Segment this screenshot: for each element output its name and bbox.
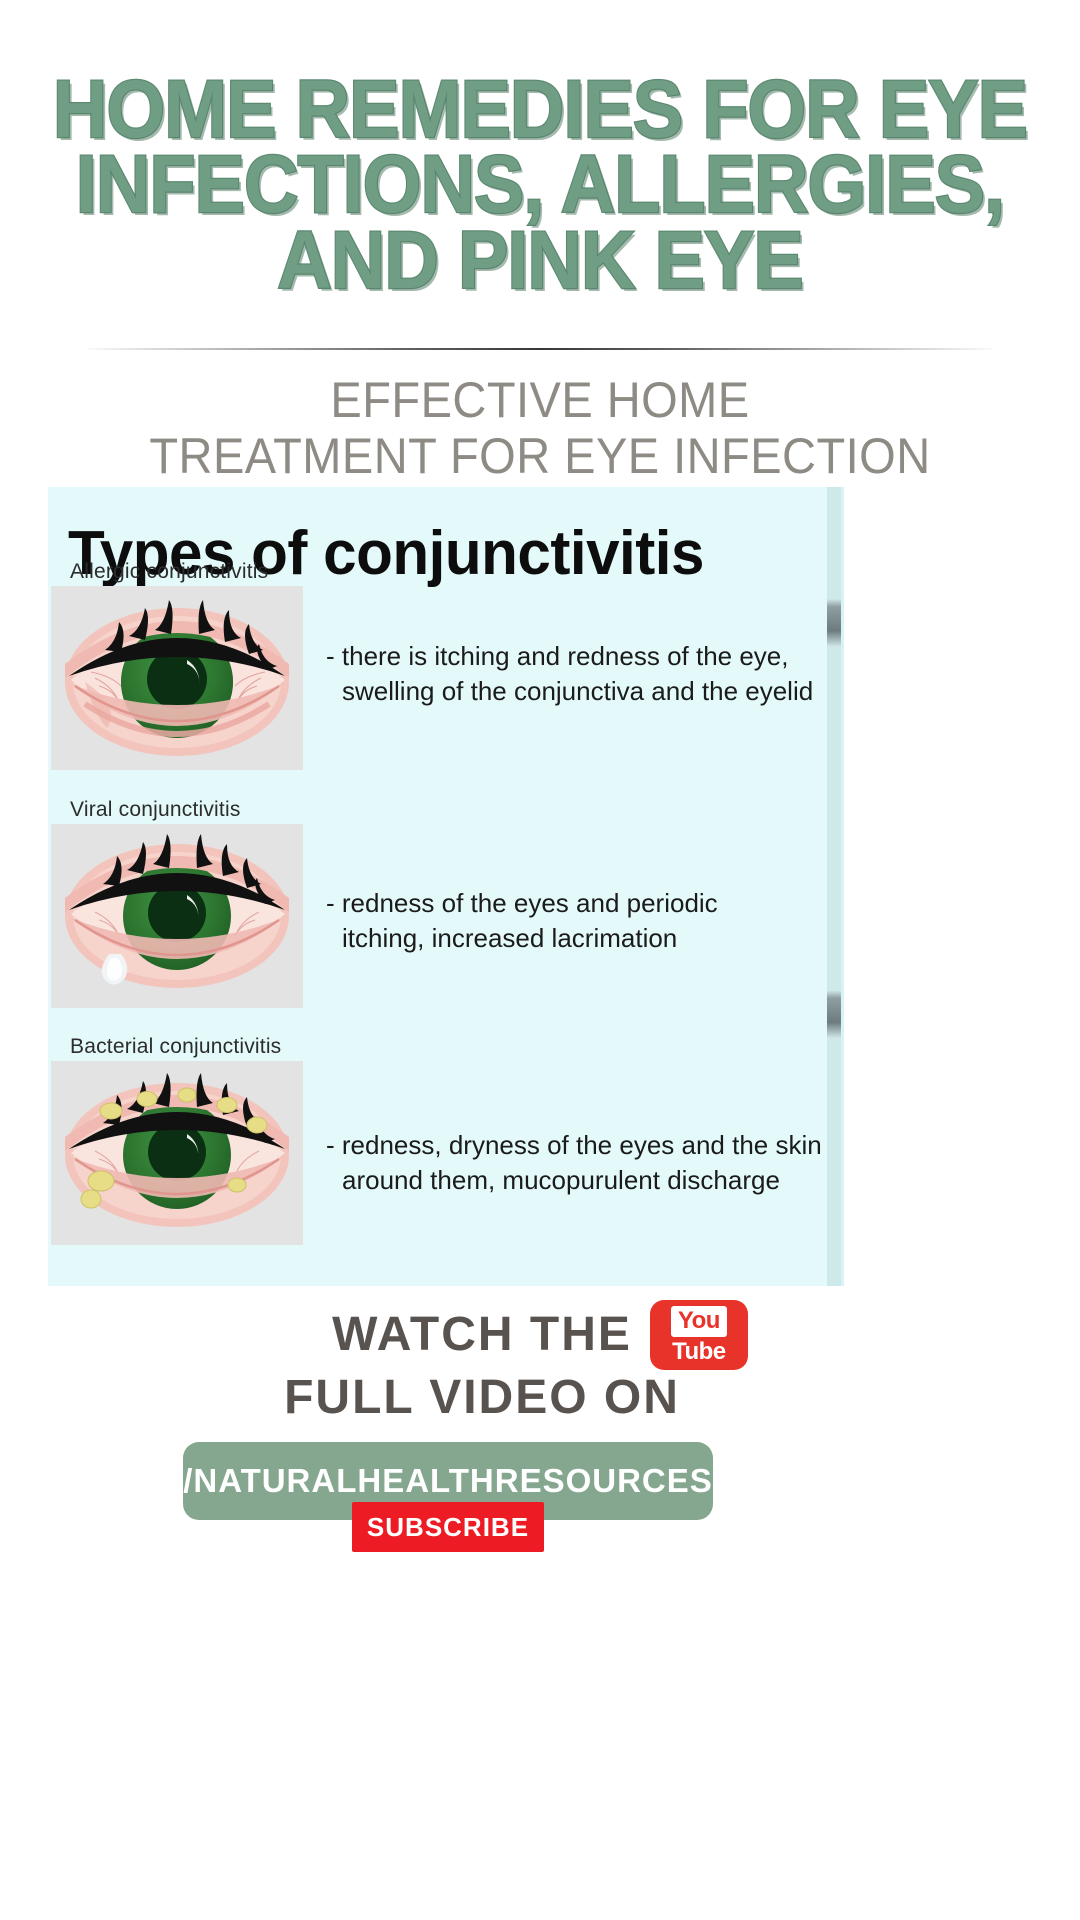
row-label-viral: Viral conjunctivitis [70,798,241,822]
eye-illustration-viral [51,824,303,1008]
row-text-viral: - redness of the eyes and periodic itchi… [326,886,838,956]
panel-right-edge [841,487,844,1286]
allergic-conjunctivitis-eye-illustration [51,586,303,770]
subtitle-line-1: EFFECTIVE HOME [32,372,1047,428]
youtube-icon-spacer [698,1398,796,1399]
viral-conjunctivitis-eye-illustration [51,824,303,1008]
row-text-allergic: - there is itching and redness of the ey… [326,639,838,709]
row-text-viral-line2: itching, increased lacrimation [326,921,838,956]
cta-line-2-row: FULL VIDEO ON [0,1370,1080,1427]
eye-illustration-allergic [51,586,303,770]
cta-line-1-row: WATCH THE You Tube [0,1300,1080,1370]
bacterial-conjunctivitis-eye-illustration [51,1061,303,1245]
channel-handle-label: /NATURALHEALTHRESOURCES [183,1462,713,1500]
row-text-bacterial-line1: - redness, dryness of the eyes and the s… [326,1130,822,1160]
subscribe-button-label: SUBSCRIBE [367,1512,529,1543]
row-text-allergic-line2: swelling of the conjunctiva and the eyel… [326,674,838,709]
cta-line-2: FULL VIDEO ON [284,1370,680,1427]
poster-title: HOME REMEDIES FOR EYE INFECTIONS, ALLERG… [0,72,1080,298]
cta-line-1: WATCH THE [332,1307,632,1364]
title-line-2: INFECTIONS, ALLERGIES, [43,147,1037,222]
row-label-bacterial: Bacterial conjunctivitis [70,1035,281,1059]
row-text-viral-line1: - redness of the eyes and periodic [326,888,718,918]
title-line-3: AND PINK EYE [43,223,1037,298]
subtitle-line-2: TREATMENT FOR EYE INFECTION [32,428,1047,484]
youtube-icon-tube: Tube [672,1340,726,1364]
subscribe-button[interactable]: SUBSCRIBE [352,1502,544,1552]
infographic-panel: Types of conjunctivitis Allergic conjunc… [48,487,841,1286]
eye-illustration-bacterial [51,1061,303,1245]
youtube-icon[interactable]: You Tube [650,1300,748,1370]
watch-video-text-block: WATCH THE You Tube FULL VIDEO ON [0,1300,1080,1427]
title-line-1: HOME REMEDIES FOR EYE [43,72,1037,147]
title-divider [88,348,992,350]
row-text-bacterial-line2: around them, mucopurulent discharge [326,1163,838,1198]
youtube-icon-you: You [671,1306,727,1337]
row-label-allergic: Allergic conjunctivitis [70,560,268,584]
row-text-allergic-line1: - there is itching and redness of the ey… [326,641,789,671]
panel-scrollbar[interactable] [827,487,841,1286]
poster-subtitle: EFFECTIVE HOME TREATMENT FOR EYE INFECTI… [0,372,1080,484]
row-text-bacterial: - redness, dryness of the eyes and the s… [326,1128,838,1198]
